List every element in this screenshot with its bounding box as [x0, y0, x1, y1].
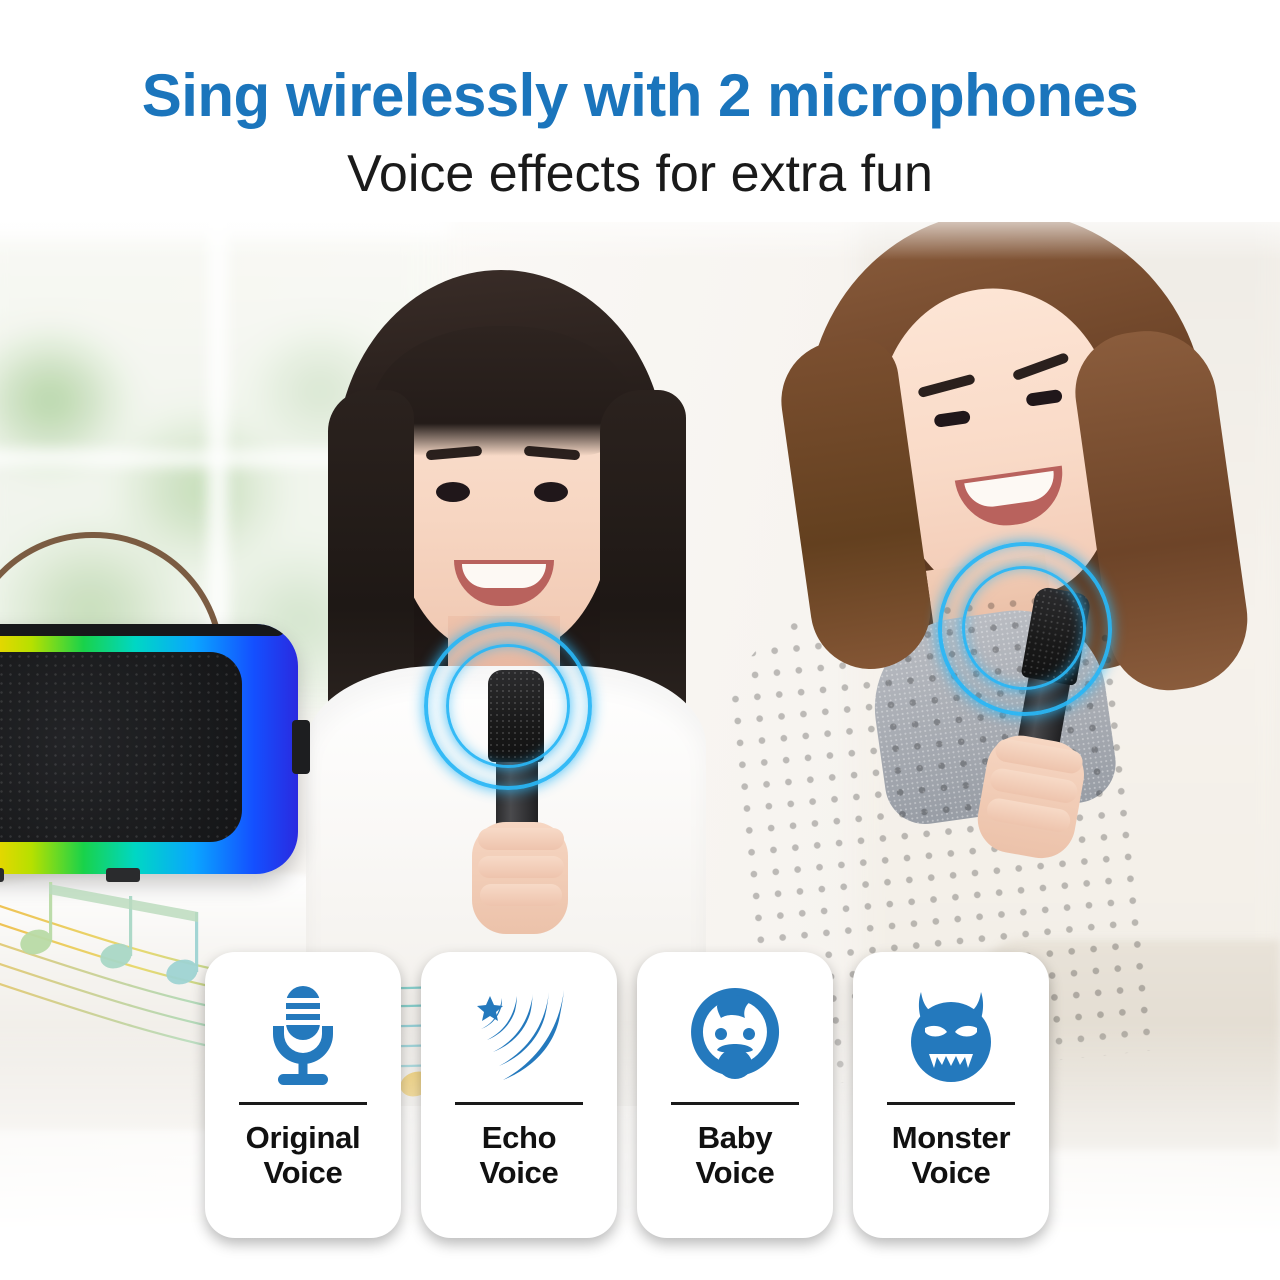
voice-effect-card-list: Original Voice Echo Voice	[205, 952, 1085, 1238]
card-divider	[671, 1102, 799, 1105]
voice-effect-card-monster[interactable]: Monster Voice	[853, 952, 1049, 1238]
card-divider	[887, 1102, 1015, 1105]
card-label-line1: Baby	[696, 1121, 775, 1156]
card-label-line1: Echo	[480, 1121, 559, 1156]
voice-effect-card-echo[interactable]: Echo Voice	[421, 952, 617, 1238]
card-label: Monster Voice	[892, 1121, 1010, 1190]
speaker-side-knob	[292, 720, 310, 774]
card-label-line2: Voice	[246, 1156, 361, 1191]
card-label: Echo Voice	[480, 1121, 559, 1190]
card-label: Baby Voice	[696, 1121, 775, 1190]
girl-finger-1	[478, 828, 564, 850]
portable-karaoke-speaker	[0, 624, 298, 874]
card-divider	[239, 1102, 367, 1105]
girl-finger-3	[480, 884, 562, 906]
woman-brow-right	[1012, 352, 1070, 381]
speaker-grille	[0, 652, 242, 842]
card-label-line2: Voice	[892, 1156, 1010, 1191]
monster-devil-face-icon	[891, 978, 1011, 1094]
card-divider	[455, 1102, 583, 1105]
microphone-icon	[243, 978, 363, 1094]
card-label-line1: Original	[246, 1121, 361, 1156]
echo-waves-icon	[459, 978, 579, 1094]
speaker-foot-left	[0, 868, 4, 882]
girl-eye-right	[534, 482, 568, 502]
girl-mouth	[454, 560, 554, 606]
card-label-line2: Voice	[480, 1156, 559, 1191]
woman-eye-left	[933, 410, 970, 428]
speaker-rgb-body	[0, 624, 298, 874]
speaker-foot-right	[106, 868, 140, 882]
voice-effect-card-original[interactable]: Original Voice	[205, 952, 401, 1238]
girl-sound-ring-inner	[446, 644, 570, 768]
speaker-top-bar	[0, 624, 286, 636]
voice-effect-card-baby[interactable]: Baby Voice	[637, 952, 833, 1238]
card-label-line2: Voice	[696, 1156, 775, 1191]
girl-finger-2	[478, 856, 564, 878]
woman-eye-right	[1025, 389, 1062, 407]
woman-sound-ring-inner	[962, 566, 1086, 690]
subheadline: Voice effects for extra fun	[0, 126, 1280, 200]
card-label: Original Voice	[246, 1121, 361, 1190]
card-label-line1: Monster	[892, 1121, 1010, 1156]
header-banner: Sing wirelessly with 2 microphones Voice…	[0, 0, 1280, 222]
girl-eye-left	[436, 482, 470, 502]
baby-face-icon	[675, 978, 795, 1094]
woman-mouth	[955, 466, 1069, 533]
headline: Sing wirelessly with 2 microphones	[0, 0, 1280, 126]
woman-brow-left	[917, 374, 976, 399]
